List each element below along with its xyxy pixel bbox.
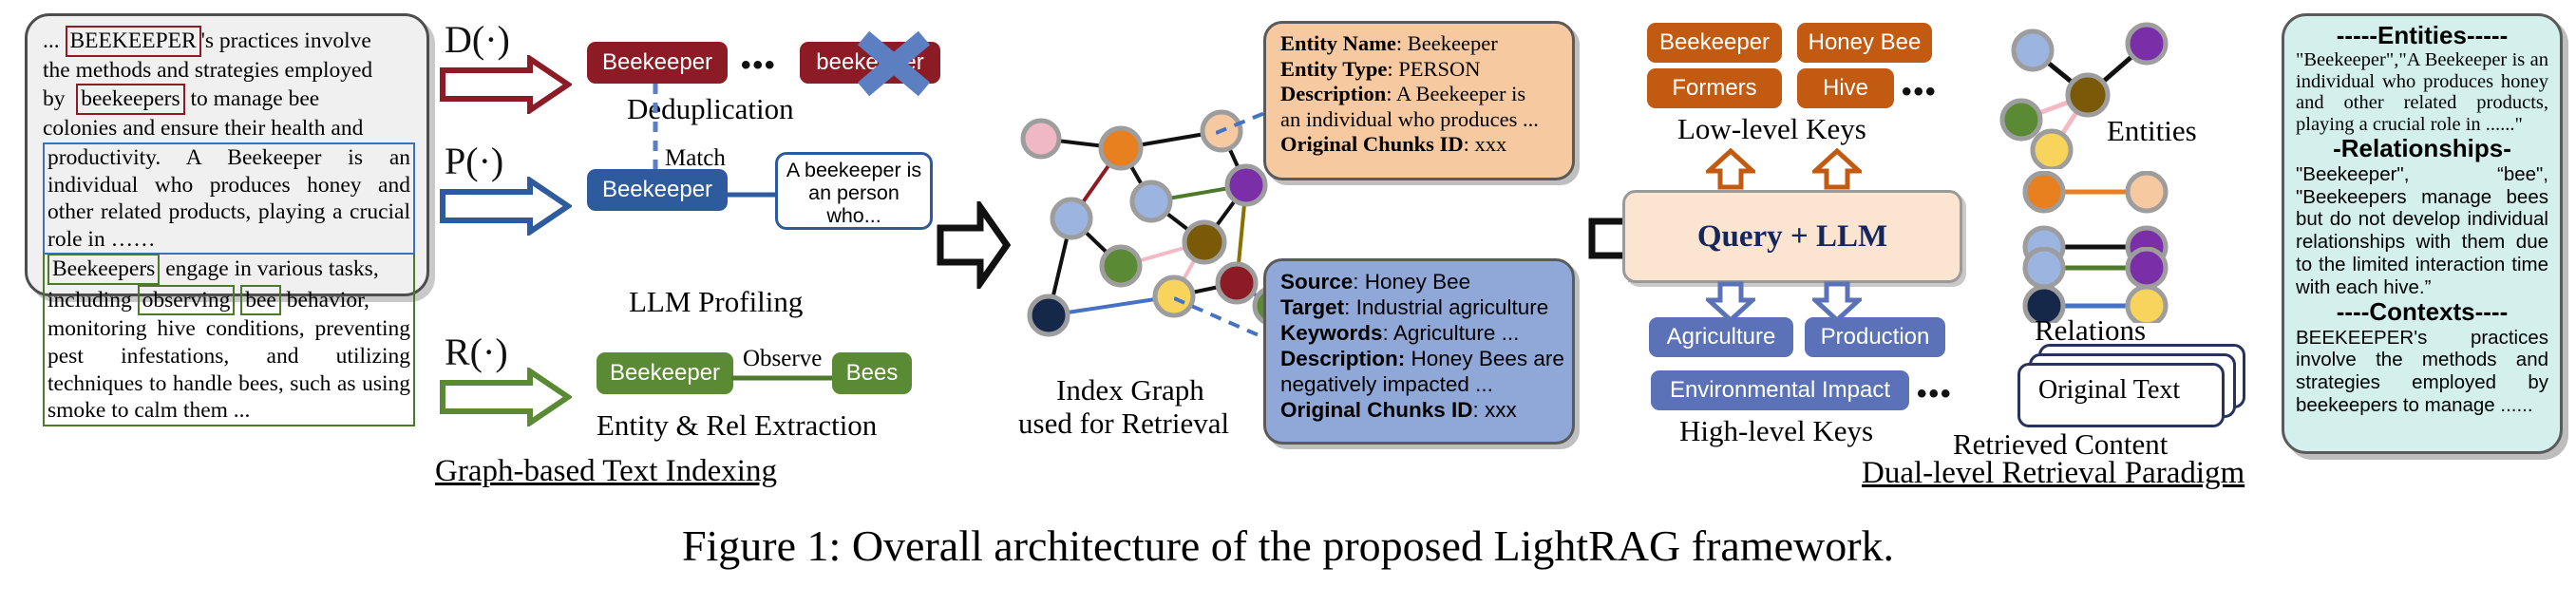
source-document-panel: ... BEEKEEPER's practices involve the me…	[25, 13, 429, 296]
original-text-label: Original Text	[2038, 375, 2180, 406]
relation-card-field-5: Original Chunks ID: xxx	[1280, 397, 1564, 423]
low-level-key-2[interactable]: Formers	[1647, 68, 1782, 108]
entities-heading: -----Entities-----	[2296, 23, 2548, 48]
highlight-entity-beekeepers-green: Beekeepers	[47, 254, 160, 285]
entities-label: Entities	[2107, 114, 2197, 148]
entities-mini-graph	[1993, 17, 2192, 174]
relation-card-field-3: Description: Honey Bees are	[1280, 346, 1564, 371]
high-level-key-1[interactable]: Production	[1805, 317, 1945, 357]
source-green-post: behavior,	[287, 288, 369, 312]
dedup-ellipsis: •••	[741, 49, 777, 82]
profiling-node-beekeeper[interactable]: Beekeeper	[587, 169, 728, 211]
indexing-section-label: Graph-based Text Indexing	[435, 454, 777, 489]
dedup-match-dashed-line	[650, 84, 661, 176]
relation-record-card: Source: Honey Bee Target: Industrial agr…	[1263, 258, 1575, 445]
profiling-description-callout: A beekeeper is an person who...	[775, 152, 933, 230]
contexts-heading: ----Contexts----	[2296, 299, 2548, 325]
source-line-2: the methods and strategies employed	[43, 57, 415, 85]
extraction-node-source[interactable]: Beekeeper	[597, 352, 733, 394]
relation-card-field-4: negatively impacted ...	[1280, 371, 1564, 397]
source-line-3: by beekeepers to manage bee	[43, 84, 415, 115]
low-level-up-arrow-left-icon	[1706, 148, 1755, 195]
low-level-keys-ellipsis: •••	[1902, 76, 1938, 108]
relationships-heading: -Relationships-	[2296, 136, 2548, 161]
relation-card-field-2: Keywords: Agriculture ...	[1280, 320, 1564, 346]
entities-body: "Beekeeper","A Beekeeper is an individua…	[2296, 49, 2548, 135]
source-line-4: colonies and ensure their health and	[43, 115, 415, 142]
contexts-body: BEEKEEPER's practices involve the method…	[2296, 327, 2548, 417]
low-level-keys-caption: Low-level Keys	[1677, 112, 1866, 146]
retrieved-context-panel: -----Entities----- "Beekeeper","A Beekee…	[2282, 13, 2563, 454]
query-llm-box[interactable]: Query + LLM	[1622, 190, 1962, 283]
index-graph-caption-line2: used for Retrieval	[1018, 407, 1229, 441]
highlight-profile-block: productivity. A Beekeeper is an individu…	[43, 142, 415, 255]
source-green-line1: Beekeepers engage in various tasks,	[47, 254, 410, 285]
relationships-body: "Beekeeper", “bee", "Beekeepers manage b…	[2296, 163, 2548, 299]
match-label: Match	[665, 145, 726, 172]
extraction-arrow-icon	[439, 368, 572, 426]
entity-card-field-0: Entity Name: Beekeeper	[1280, 31, 1539, 57]
source-green-rest1: engage in various tasks,	[165, 256, 379, 281]
dedup-arrow-icon	[439, 55, 572, 114]
entity-card-body: Entity Name: Beekeeper Entity Type: PERS…	[1280, 31, 1539, 158]
source-green-region: Beekeepers engage in various tasks, incl…	[43, 254, 415, 426]
entity-card-field-4: Original Chunks ID: xxx	[1280, 132, 1539, 158]
entity-card-field-2: Description: A Beekeeper is	[1280, 82, 1539, 107]
source-green-pre: including	[47, 288, 132, 312]
highlight-relation-observing: observing	[138, 285, 236, 316]
relations-label: Relations	[2035, 313, 2146, 348]
highlight-entity-beekeepers: beekeepers	[76, 84, 184, 115]
high-level-key-2[interactable]: Environmental Impact	[1651, 370, 1909, 410]
figure-caption: Figure 1: Overall architecture of the pr…	[0, 521, 2576, 571]
retrieval-section-label: Dual-level Retrieval Paradigm	[1862, 456, 2245, 491]
extraction-caption: Entity & Rel Extraction	[597, 408, 877, 443]
source-line3-post: to manage bee	[191, 86, 320, 111]
low-level-key-0[interactable]: Beekeeper	[1647, 23, 1782, 63]
remove-cross-icon	[850, 27, 938, 105]
relation-card-field-0: Source: Honey Bee	[1280, 269, 1564, 294]
dedup-node-primary[interactable]: Beekeeper	[587, 42, 728, 84]
source-green-line2: including observing bee behavior,	[47, 285, 410, 316]
entity-card-field-3: an individual who produces ...	[1280, 107, 1539, 133]
profiling-connector-line	[728, 186, 777, 203]
profiling-arrow-icon	[439, 177, 572, 236]
relation-card-body: Source: Honey Bee Target: Industrial agr…	[1280, 269, 1564, 423]
source-line-1: ... BEEKEEPER's practices involve	[43, 28, 371, 53]
source-document-text: ... BEEKEEPER's practices involve the me…	[43, 26, 415, 426]
low-level-key-3[interactable]: Hive	[1797, 68, 1894, 108]
source-after-caps: 's practices involve	[201, 28, 371, 53]
index-graph-caption-line1: Index Graph	[1056, 373, 1204, 407]
low-level-key-1[interactable]: Honey Bee	[1797, 23, 1932, 63]
high-level-key-0[interactable]: Agriculture	[1649, 317, 1793, 357]
high-level-keys-ellipsis: •••	[1917, 378, 1953, 410]
extraction-node-target[interactable]: Bees	[832, 352, 912, 394]
profiling-caption: LLM Profiling	[629, 285, 803, 319]
extraction-edge-label: Observe	[743, 346, 822, 372]
entity-record-card: Entity Name: Beekeeper Entity Type: PERS…	[1263, 21, 1575, 180]
source-green-line3: monitoring hive conditions, preventing p…	[47, 315, 410, 424]
highlight-entity-bee: bee	[240, 285, 281, 316]
low-level-up-arrow-right-icon	[1812, 148, 1862, 195]
high-level-keys-caption: High-level Keys	[1679, 414, 1873, 448]
relation-card-field-1: Target: Industrial agriculture	[1280, 294, 1564, 320]
source-line3-pre: by	[43, 86, 66, 111]
entity-card-field-1: Entity Type: PERSON	[1280, 57, 1539, 83]
highlight-entity-beekeeper-caps: BEEKEEPER	[66, 26, 201, 57]
